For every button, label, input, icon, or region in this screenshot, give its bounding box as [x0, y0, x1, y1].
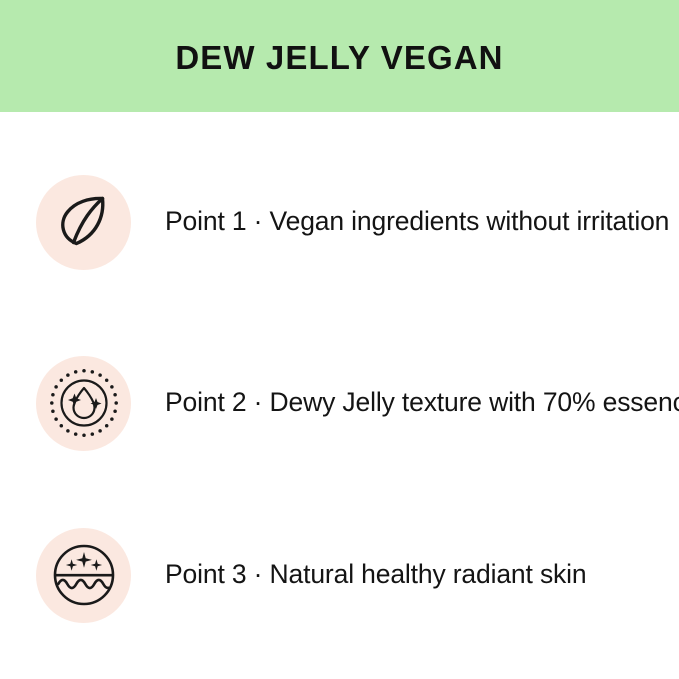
water-droplet-sparkle-icon	[36, 356, 131, 451]
list-item-label: Point 1 · Vegan ingredients without irri…	[165, 206, 679, 238]
header-band: DEW JELLY VEGAN	[0, 0, 679, 112]
list-item: Point 1 · Vegan ingredients without irri…	[0, 174, 679, 270]
radiant-sphere-icon	[36, 528, 131, 623]
page-title: DEW JELLY VEGAN	[175, 41, 503, 74]
list-item-label: Point 2 · Dewy Jelly texture with 70% es…	[165, 387, 679, 419]
feature-points-list: Point 1 · Vegan ingredients without irri…	[0, 112, 679, 679]
list-item: Point 2 · Dewy Jelly texture with 70% es…	[0, 355, 679, 451]
list-item: Point 3 · Natural healthy radiant skin	[0, 527, 679, 623]
product-feature-card: DEW JELLY VEGAN Point 1 · Vegan ingredie…	[0, 0, 679, 679]
list-item-label: Point 3 · Natural healthy radiant skin	[165, 559, 679, 591]
leaf-icon	[36, 175, 131, 270]
